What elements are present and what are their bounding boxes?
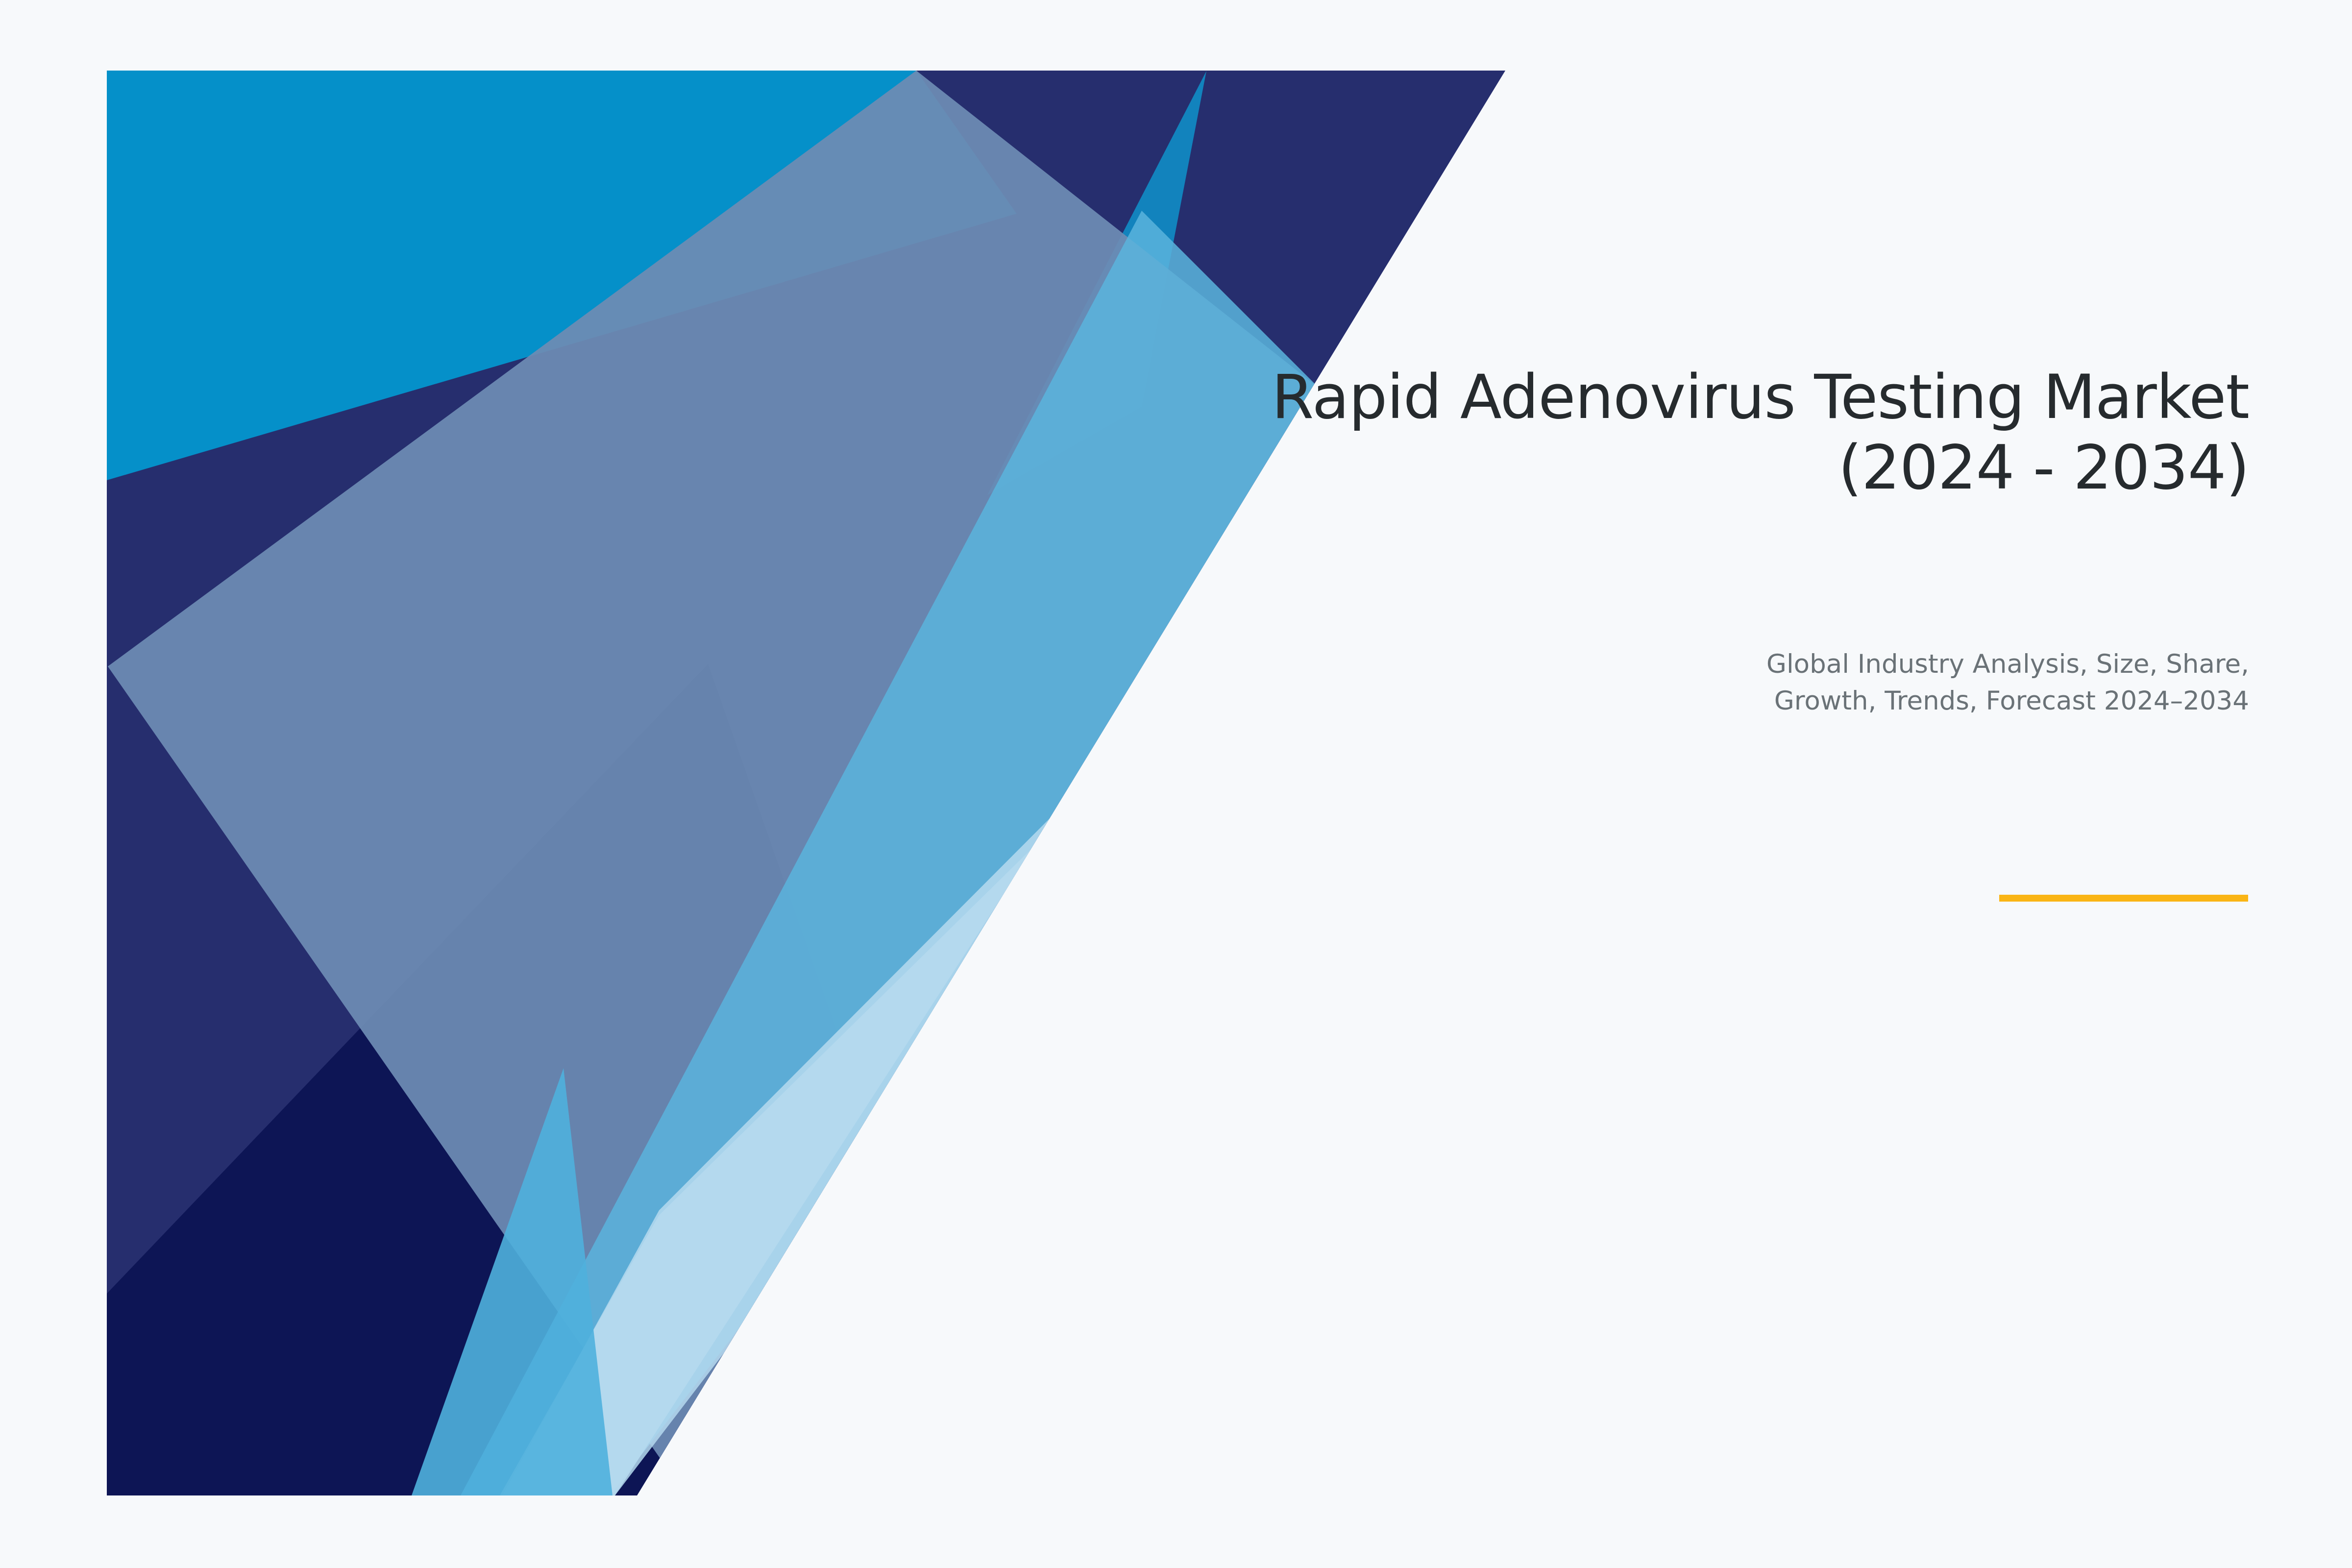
- cover-artwork: [0, 0, 2352, 1568]
- shape-slate-overlay: [108, 71, 1411, 1495]
- page-subtitle: Global Industry Analysis, Size, Share, G…: [1073, 646, 2249, 720]
- title-underline-accent: [1999, 895, 2248, 902]
- title-block: Rapid Adenovirus Testing Market (2024 - …: [779, 363, 2249, 504]
- shape-light-blue-sliver: [412, 1068, 612, 1495]
- shape-pale-blue-wedge: [500, 343, 1416, 1495]
- shape-pale-blue-inner: [502, 461, 1406, 1495]
- page-title: Rapid Adenovirus Testing Market (2024 - …: [779, 363, 2249, 504]
- shape-cyan-field: [107, 71, 1505, 1078]
- shape-indigo-body: [107, 71, 1505, 1495]
- shape-deep-navy-lower: [107, 664, 1000, 1495]
- cover-artwork-svg: [0, 0, 2352, 1568]
